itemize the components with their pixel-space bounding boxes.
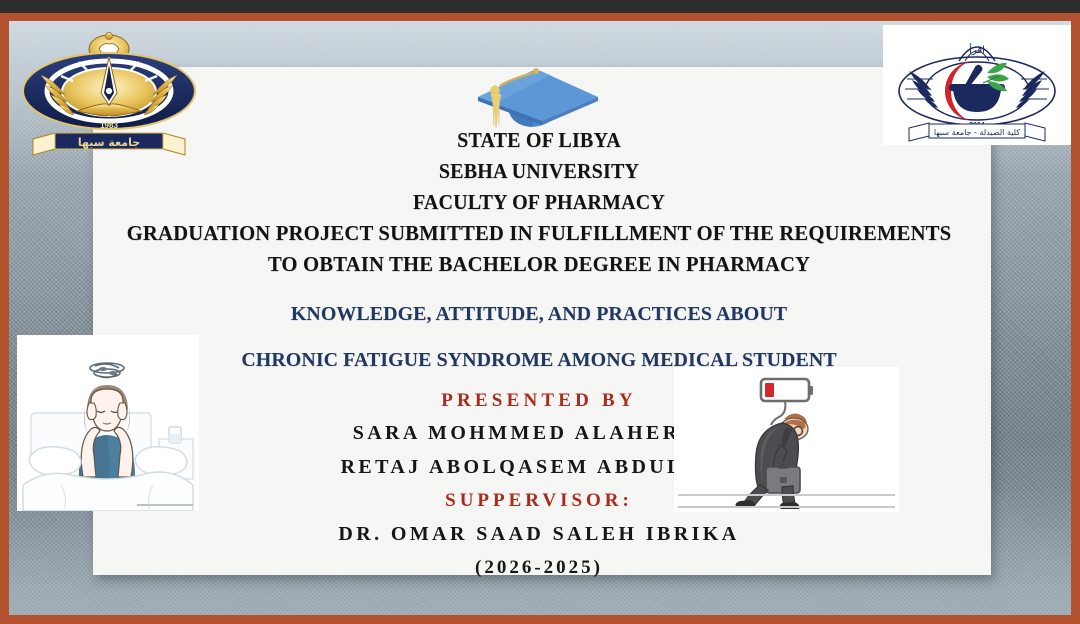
heading-faculty: FACULTY OF PHARMACY — [130, 187, 948, 218]
heading-university: SEBHA UNIVERSITY — [130, 156, 948, 187]
tired-person-in-bed-illustration — [17, 335, 199, 511]
pharmacy-logo-arabic-top: اقرأ — [969, 43, 985, 56]
screen: 1983 جامعة سبها اقرأ — [0, 0, 1080, 624]
statement-line-1: GRADUATION PROJECT SUBMITTED IN FULFILLM… — [117, 218, 962, 249]
spacer — [99, 280, 979, 291]
slide-frame: 1983 جامعة سبها اقرأ — [0, 13, 1080, 624]
heading-state: STATE OF LIBYA — [130, 125, 948, 156]
project-title-line-1: KNOWLEDGE, ATTITUDE, AND PRACTICES ABOUT — [112, 291, 966, 337]
exhausted-businessman-low-battery-illustration — [674, 367, 899, 512]
supervisor-name: DR. OMAR SAAD SALEH IBRIKA — [99, 517, 979, 551]
slide-text-block: STATE OF LIBYA SEBHA UNIVERSITY FACULTY … — [99, 125, 979, 585]
slide-canvas: 1983 جامعة سبها اقرأ — [9, 21, 1071, 615]
statement-line-2: TO OBTAIN THE BACHELOR DEGREE IN PHARMAC… — [117, 249, 962, 280]
academic-year: (2026-2025) — [99, 551, 979, 585]
window-top-bar — [0, 0, 1080, 13]
